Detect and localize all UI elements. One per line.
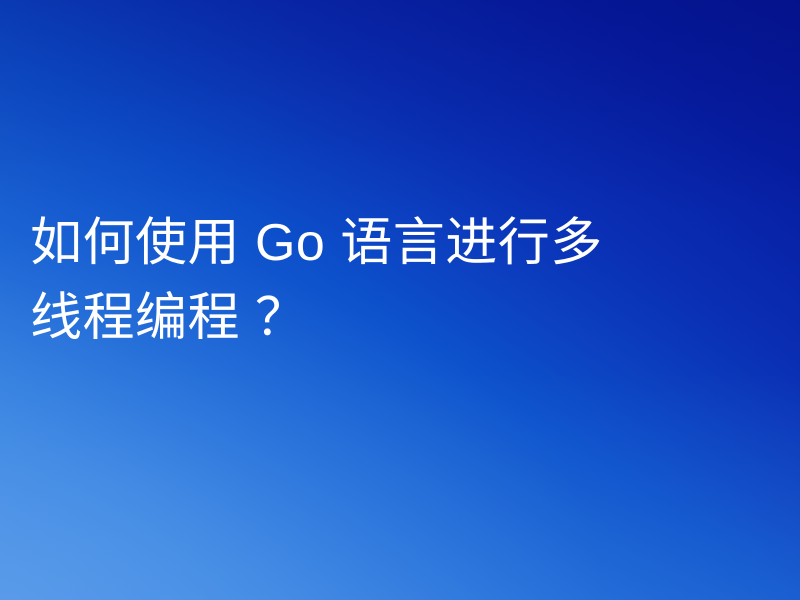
question-card: 如何使用 Go 语言进行多 线程编程 ？ xyxy=(0,0,800,600)
headline-text: 如何使用 Go 语言进行多 线程编程 ？ xyxy=(30,206,750,356)
